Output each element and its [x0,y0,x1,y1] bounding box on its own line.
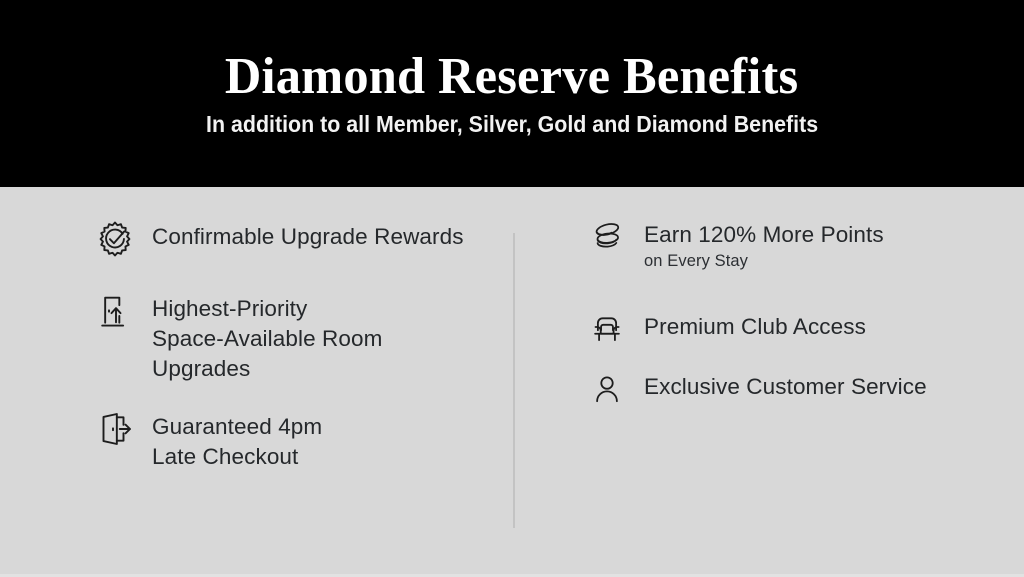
benefit-item-confirmable-upgrade-rewards: Confirmable Upgrade Rewards [96,217,464,261]
benefit-item-exclusive-customer-service: Exclusive Customer Service [588,367,927,411]
benefit-label: Guaranteed 4pm Late Checkout [152,407,322,472]
benefit-item-earn-more-points: Earn 120% More Pointson Every Stay [588,215,884,273]
person-icon [588,367,632,411]
column-divider [513,233,515,528]
page-subtitle: In addition to all Member, Silver, Gold … [206,112,818,137]
benefit-item-premium-club-access: Premium Club Access [588,307,866,351]
header-banner: Diamond Reserve Benefits In addition to … [0,0,1024,187]
benefits-slide: Diamond Reserve Benefits In addition to … [0,0,1024,577]
benefit-label-main: Earn 120% More Points [644,222,884,247]
benefit-label: Earn 120% More Pointson Every Stay [644,215,884,273]
page-title: Diamond Reserve Benefits [225,50,798,105]
benefit-item-space-available-upgrades: Highest-Priority Space-Available Room Up… [96,289,382,384]
benefits-body: Confirmable Upgrade Rewards Highest-Prio… [0,187,1024,577]
door-upgrade-arrow-icon [96,289,140,333]
benefit-label: Confirmable Upgrade Rewards [152,217,464,252]
verified-badge-icon [96,217,140,261]
benefit-item-late-checkout: Guaranteed 4pm Late Checkout [96,407,322,472]
benefit-label: Exclusive Customer Service [644,367,927,402]
coins-stack-icon [588,215,632,259]
benefit-label: Premium Club Access [644,307,866,342]
benefit-label: Highest-Priority Space-Available Room Up… [152,289,382,384]
benefit-sublabel: on Every Stay [644,250,884,273]
door-exit-arrow-icon [96,407,140,451]
armchair-icon [588,307,632,351]
